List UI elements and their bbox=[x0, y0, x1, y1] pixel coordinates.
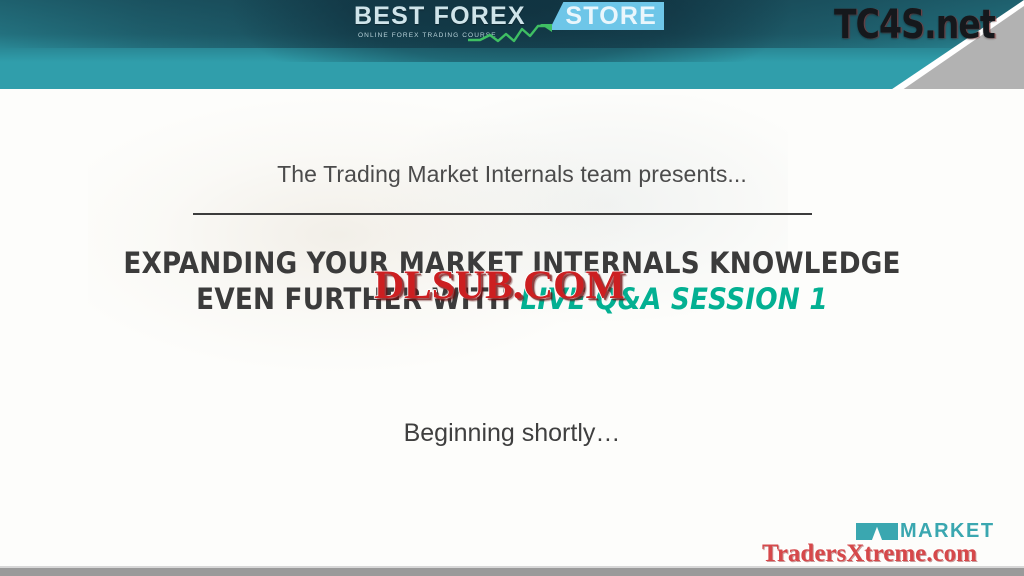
logo-chart-line-icon bbox=[468, 24, 556, 51]
market-arrow-icon bbox=[856, 523, 898, 540]
slide-screenshot: BEST FOREX STORE ONLINE FOREX TRADING CO… bbox=[0, 0, 1024, 576]
slide-body: The Trading Market Internals team presen… bbox=[0, 89, 1024, 568]
dlsub-watermark: DLSUB.COM bbox=[374, 264, 625, 306]
presents-line: The Trading Market Internals team presen… bbox=[0, 161, 1024, 188]
tc4s-watermark: TC4S.net bbox=[834, 3, 995, 47]
title-divider bbox=[193, 213, 812, 215]
best-forex-store-logo: BEST FOREX STORE ONLINE FOREX TRADING CO… bbox=[352, 2, 664, 46]
tradersxtreme-watermark: TradersXtreme.com bbox=[762, 540, 977, 568]
beginning-shortly-text: Beginning shortly… bbox=[0, 419, 1024, 448]
logo-badge-text: STORE bbox=[565, 2, 657, 30]
logo-store-badge: STORE bbox=[549, 2, 664, 30]
bottom-bar bbox=[0, 568, 1024, 576]
